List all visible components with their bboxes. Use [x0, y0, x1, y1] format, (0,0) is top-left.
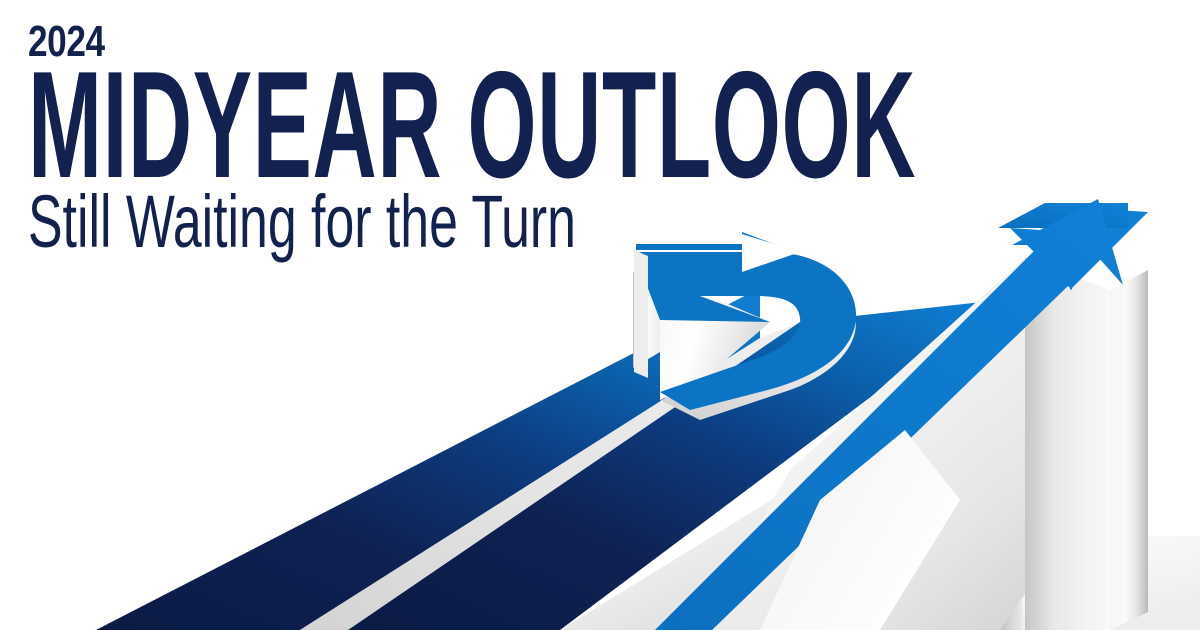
- up-right-ribbon-wall-a: [1110, 270, 1148, 630]
- page-title: MIDYEAR OUTLOOK: [28, 66, 916, 184]
- page-subtitle: Still Waiting for the Turn: [28, 184, 1091, 260]
- poster-canvas: 2024 MIDYEAR OUTLOOK Still Waiting for t…: [0, 0, 1200, 630]
- title-block: 2024 MIDYEAR OUTLOOK Still Waiting for t…: [28, 18, 1200, 260]
- s-curve-plank: [634, 250, 648, 378]
- s-curve-plank-face: [634, 250, 648, 378]
